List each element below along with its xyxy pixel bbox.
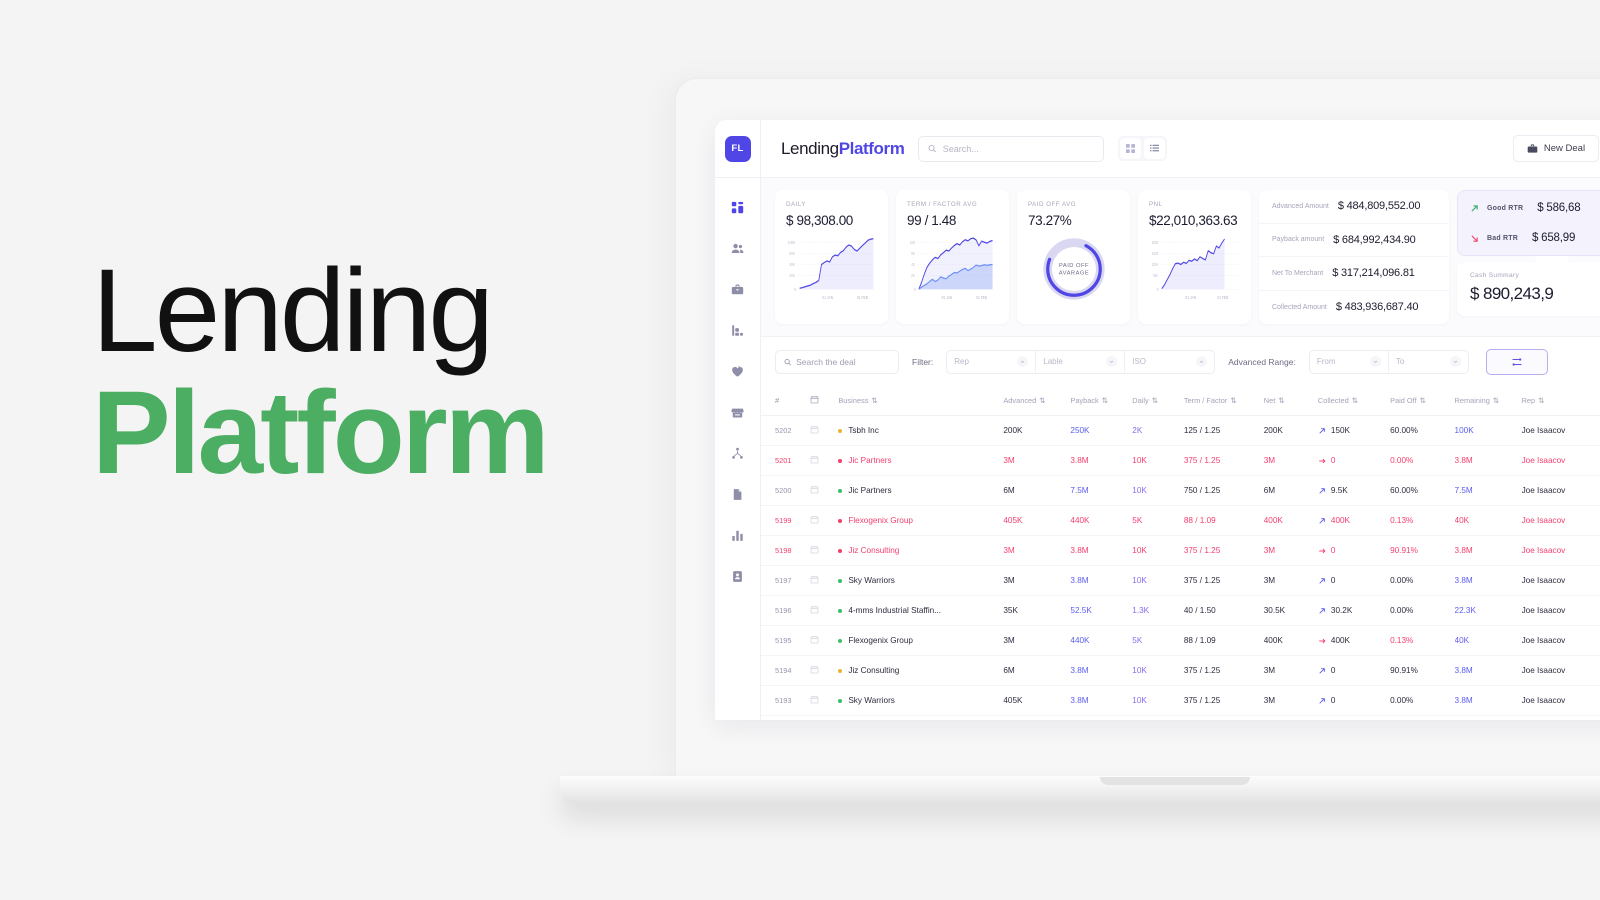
laptop-mockup: FL: [675, 78, 1600, 778]
cell-payback: 440K: [1070, 506, 1132, 536]
cell-id: 5202: [761, 416, 810, 446]
cell-collected: 0: [1318, 566, 1390, 596]
kpi-label: PNL: [1149, 201, 1240, 208]
rtr-cash-stack: Good RTR $ 586,68 Bad RTR $ 658,99 Cas: [1457, 190, 1600, 324]
brand-first: Lending: [781, 139, 839, 158]
cell-id: 5199: [761, 506, 810, 536]
calendar-icon: [810, 425, 819, 434]
rtr-card: Good RTR $ 586,68 Bad RTR $ 658,99: [1457, 190, 1600, 256]
calendar-icon: [810, 545, 819, 554]
cell-payback: 440K: [1070, 626, 1132, 656]
svg-text:20K: 20K: [789, 272, 795, 278]
cell-daily: 10K: [1132, 446, 1184, 476]
cell-business: Jiz Consulting: [838, 536, 1003, 566]
briefcase-icon: [1527, 143, 1538, 154]
status-dot: [838, 609, 842, 613]
cell-advanced: 6M: [1003, 656, 1070, 686]
chevron-down-icon: [1370, 356, 1381, 367]
filter-select-rep[interactable]: Rep: [947, 351, 1036, 373]
cell-daily: 10K: [1132, 686, 1184, 716]
sort-icon: ⇅: [1420, 396, 1426, 405]
cash-summary-value: $ 890,243,9: [1470, 284, 1600, 304]
arrow-up-right-icon: [1318, 427, 1326, 435]
business-name: Flexogenix Group: [848, 636, 913, 645]
cell-remaining: 3.8M: [1455, 686, 1522, 716]
col-term-factor[interactable]: Term / Factor⇅: [1184, 386, 1264, 416]
search-icon: [928, 144, 936, 153]
arrow-right-icon: [1318, 547, 1326, 555]
cell-daily: 5K: [1132, 506, 1184, 536]
sidebar-item-reports[interactable]: [727, 319, 749, 341]
range-to-select[interactable]: To: [1389, 351, 1468, 373]
logo-badge: FL: [725, 136, 751, 162]
range-from-value: From: [1317, 357, 1336, 366]
sort-icon: ⇅: [1278, 396, 1284, 405]
analytics-icon: [731, 529, 744, 542]
table-body: 5202Tsbh Inc200K250K2K125 / 1.25200K150K…: [761, 416, 1600, 716]
cell-calendar[interactable]: [810, 506, 838, 536]
svg-text:20: 20: [911, 272, 915, 278]
advanced-range-label: Advanced Range:: [1228, 357, 1296, 367]
cell-payback: 250K: [1070, 416, 1132, 446]
svg-text:5M: 5M: [1153, 272, 1158, 278]
archive-icon: [731, 570, 744, 583]
chevron-down-icon: [1106, 356, 1117, 367]
svg-text:15M: 15M: [1152, 250, 1159, 256]
cell-calendar[interactable]: [810, 626, 838, 656]
good-rtr-row: Good RTR $ 586,68: [1458, 193, 1600, 223]
summary-key: Payback amount: [1272, 236, 1324, 243]
cell-id: 5195: [761, 626, 810, 656]
app-logo[interactable]: FL: [715, 120, 761, 178]
cell-collected: 0: [1318, 536, 1390, 566]
svg-text:0: 0: [1157, 286, 1159, 292]
filter-select-rep-value: Rep: [954, 357, 969, 366]
cell-advanced: 3M: [1003, 536, 1070, 566]
calendar-icon: [810, 515, 819, 524]
cell-term-factor: 375 / 1.25: [1184, 536, 1264, 566]
cell-rep: Joe Isaacov: [1522, 476, 1600, 506]
svg-text:01 FEB: 01 FEB: [857, 294, 868, 300]
cash-summary-card: Cash Summary $ 890,243,9: [1457, 262, 1600, 316]
laptop-base: [560, 776, 1600, 804]
calendar-icon: [810, 395, 819, 404]
calendar-icon: [810, 605, 819, 614]
deals-icon: [731, 283, 744, 296]
grid-view-button[interactable]: [1120, 138, 1141, 159]
cell-collected: 400K: [1318, 626, 1390, 656]
summary-row: Net To Merchant $ 317,214,096.81: [1259, 257, 1449, 291]
deals-table-wrap[interactable]: # Business⇅ Advanced⇅ Payback⇅ Daily⇅ Te…: [761, 386, 1600, 720]
status-dot: [838, 459, 842, 463]
arrow-up-right-icon: [1318, 577, 1326, 585]
cell-term-factor: 375 / 1.25: [1184, 446, 1264, 476]
sidebar-item-analytics[interactable]: [727, 524, 749, 546]
col-collected[interactable]: Collected⇅: [1318, 386, 1390, 416]
cell-paid-off: 60.00%: [1390, 416, 1454, 446]
table-row[interactable]: 5201Jic Partners3M3.8M10K375 / 1.253M00.…: [761, 446, 1600, 476]
deals-table: # Business⇅ Advanced⇅ Payback⇅ Daily⇅ Te…: [761, 386, 1600, 716]
col-id[interactable]: #: [761, 386, 810, 416]
chevron-down-icon: [1450, 356, 1461, 367]
col-payback[interactable]: Payback⇅: [1070, 386, 1132, 416]
bad-rtr-row: Bad RTR $ 658,99: [1458, 223, 1600, 253]
advanced-range-group: From To: [1309, 350, 1469, 374]
clients-icon: [731, 242, 744, 255]
sidebar-item-deals[interactable]: [727, 278, 749, 300]
sidebar-item-pipeline[interactable]: [727, 442, 749, 464]
kpi-label: PAID OFF AVG: [1028, 201, 1119, 208]
business-name: Flexogenix Group: [848, 516, 913, 525]
pipeline-icon: [731, 447, 744, 460]
bad-rtr-value: $ 658,99: [1532, 232, 1575, 244]
cell-payback: 3.8M: [1070, 656, 1132, 686]
svg-text:0: 0: [794, 286, 796, 292]
cell-daily: 10K: [1132, 656, 1184, 686]
summary-row: Payback amount $ 684,992,434.90: [1259, 224, 1449, 258]
app-window: FL: [715, 120, 1600, 720]
cell-net: 3M: [1264, 446, 1318, 476]
business-name: Jiz Consulting: [848, 546, 899, 555]
col-rep[interactable]: Rep⇅: [1522, 386, 1600, 416]
cell-term-factor: 375 / 1.25: [1184, 566, 1264, 596]
term-factor-area-chart: 10080 4020 0 01 JAN01 FEB: [907, 237, 998, 303]
cell-net: 400K: [1264, 506, 1318, 536]
sidebar-item-merchants[interactable]: [727, 401, 749, 423]
cell-term-factor: 125 / 1.25: [1184, 416, 1264, 446]
search-icon: [784, 358, 791, 366]
cell-business: Sky Warriors: [838, 566, 1003, 596]
calendar-icon: [810, 485, 819, 494]
summary-value: $ 484,809,552.00: [1338, 200, 1420, 212]
calendar-icon: [810, 635, 819, 644]
filter-label: Filter:: [912, 357, 933, 367]
sidebar-item-dashboard[interactable]: [727, 196, 749, 218]
kpi-card-pnl: PNL $22,010,363.63 20M15M 10M5M 0: [1138, 190, 1251, 324]
cell-daily: 2K: [1132, 416, 1184, 446]
col-advanced[interactable]: Advanced⇅: [1003, 386, 1070, 416]
summary-row: Advanced Amount $ 484,809,552.00: [1259, 190, 1449, 224]
business-name: Jic Partners: [848, 486, 891, 495]
cell-calendar[interactable]: [810, 446, 838, 476]
filter-select-iso-value: ISO: [1132, 357, 1146, 366]
table-row[interactable]: 5199Flexogenix Group405K440K5K88 / 1.094…: [761, 506, 1600, 536]
summary-key: Net To Merchant: [1272, 270, 1323, 277]
table-row[interactable]: 5193Sky Warriors405K3.8M10K375 / 1.253M0…: [761, 686, 1600, 716]
table-row[interactable]: 5198Jiz Consulting3M3.8M10K375 / 1.253M0…: [761, 536, 1600, 566]
kpi-card-term-factor: TERM / FACTOR AVG 99 / 1.48 10080 4020 0: [896, 190, 1009, 324]
svg-text:0: 0: [914, 286, 916, 292]
cell-term-factor: 40 / 1.50: [1184, 596, 1264, 626]
svg-text:20M: 20M: [1152, 239, 1159, 245]
cell-daily: 10K: [1132, 476, 1184, 506]
sort-icon: ⇅: [1039, 396, 1045, 405]
grid-view-icon: [1126, 144, 1135, 153]
cell-advanced: 3M: [1003, 446, 1070, 476]
cell-collected: 400K: [1318, 506, 1390, 536]
sort-icon: ⇅: [1230, 396, 1236, 405]
list-view-icon: [1150, 144, 1159, 153]
chevron-down-icon: [1017, 356, 1028, 367]
cell-collected: 0: [1318, 446, 1390, 476]
cell-business: Flexogenix Group: [838, 506, 1003, 536]
cell-paid-off: 0.13%: [1390, 626, 1454, 656]
arrow-up-right-icon: [1318, 607, 1326, 615]
cell-paid-off: 0.00%: [1390, 446, 1454, 476]
deal-search-box[interactable]: [775, 350, 899, 374]
search-input[interactable]: [943, 144, 1095, 154]
cell-daily: 10K: [1132, 536, 1184, 566]
deal-search-input[interactable]: [796, 357, 890, 367]
svg-text:40: 40: [911, 261, 915, 267]
arrow-up-right-icon: [1318, 667, 1326, 675]
business-name: Jic Partners: [848, 456, 891, 465]
cell-rep: Joe Isaacov: [1522, 416, 1600, 446]
kpi-label: TERM / FACTOR AVG: [907, 201, 998, 208]
calendar-icon: [810, 665, 819, 674]
dashboard-icon: [731, 201, 744, 214]
svg-text:60K: 60K: [789, 250, 795, 256]
cell-paid-off: 0.00%: [1390, 686, 1454, 716]
table-row[interactable]: 5200Jic Partners6M7.5M10K750 / 1.256M9.5…: [761, 476, 1600, 506]
cell-rep: Joe Isaacov: [1522, 506, 1600, 536]
table-row[interactable]: 5194Jiz Consulting6M3.8M10K375 / 1.253M0…: [761, 656, 1600, 686]
cell-net: 30.5K: [1264, 596, 1318, 626]
table-row[interactable]: 5195Flexogenix Group3M440K5K88 / 1.09400…: [761, 626, 1600, 656]
daily-area-chart: 100K60K 40K20K 0 01 JAN01 FEB: [786, 237, 877, 303]
kpi-value: $ 98,308.00: [786, 213, 877, 228]
sort-icon: ⇅: [1352, 396, 1358, 405]
cell-rep: Joe Isaacov: [1522, 446, 1600, 476]
status-dot: [838, 579, 842, 583]
paid-off-donut-chart: PAID OFF AVARAGE: [1028, 234, 1119, 304]
cell-remaining: 7.5M: [1455, 476, 1522, 506]
hero-line-1: Lending: [92, 255, 652, 367]
new-deal-label: New Deal: [1544, 143, 1585, 154]
kpi-strip: DAILY $ 98,308.00 100K60K 40K20K 0: [761, 178, 1600, 336]
cell-payback: 3.8M: [1070, 446, 1132, 476]
cell-id: 5198: [761, 536, 810, 566]
hero-headline: Lending Platform: [92, 255, 652, 489]
cell-daily: 1.3K: [1132, 596, 1184, 626]
cell-calendar[interactable]: [810, 536, 838, 566]
topbar-actions: New Deal New Client: [1513, 135, 1600, 162]
cell-calendar[interactable]: [810, 686, 838, 716]
filter-select-iso[interactable]: ISO: [1125, 351, 1214, 373]
svg-text:100K: 100K: [788, 239, 796, 245]
cell-term-factor: 750 / 1.25: [1184, 476, 1264, 506]
status-dot: [838, 519, 842, 523]
list-view-button[interactable]: [1144, 138, 1165, 159]
svg-text:01 JAN: 01 JAN: [822, 294, 833, 300]
cell-net: 3M: [1264, 566, 1318, 596]
svg-text:01 FEB: 01 FEB: [1217, 294, 1228, 300]
cell-rep: Joe Isaacov: [1522, 626, 1600, 656]
status-dot: [838, 549, 842, 553]
sidebar-item-archive[interactable]: [727, 565, 749, 587]
sidebar-nav: [727, 196, 749, 587]
sidebar-item-partners[interactable]: [727, 360, 749, 382]
svg-text:40K: 40K: [789, 261, 795, 267]
reports-icon: [731, 324, 744, 337]
svg-text:01 JAN: 01 JAN: [942, 294, 953, 300]
col-business[interactable]: Business⇅: [838, 386, 1003, 416]
table-header: # Business⇅ Advanced⇅ Payback⇅ Daily⇅ Te…: [761, 386, 1600, 416]
cell-term-factor: 88 / 1.09: [1184, 506, 1264, 536]
range-to-value: To: [1396, 357, 1404, 366]
cell-calendar[interactable]: [810, 656, 838, 686]
status-dot: [838, 429, 842, 433]
new-deal-button[interactable]: New Deal: [1513, 135, 1599, 162]
arrow-right-icon: [1318, 457, 1326, 465]
sort-icon: ⇅: [1538, 396, 1544, 405]
cell-remaining: 40K: [1455, 506, 1522, 536]
col-daily[interactable]: Daily⇅: [1132, 386, 1184, 416]
business-name: Sky Warriors: [848, 696, 895, 705]
cell-payback: 3.8M: [1070, 686, 1132, 716]
cell-net: 3M: [1264, 686, 1318, 716]
table-row[interactable]: 51964-mms Industrial Staffin...35K52.5K1…: [761, 596, 1600, 626]
sort-icon: ⇅: [871, 396, 877, 405]
cell-business: Jic Partners: [838, 476, 1003, 506]
cell-business: Jic Partners: [838, 446, 1003, 476]
status-dot: [838, 699, 842, 703]
main-content: LendingPlatform: [761, 120, 1600, 720]
advanced-filter-button[interactable]: [1486, 349, 1548, 375]
col-paid-off[interactable]: Paid Off⇅: [1390, 386, 1454, 416]
good-rtr-value: $ 586,68: [1537, 202, 1580, 214]
table-row[interactable]: 5202Tsbh Inc200K250K2K125 / 1.25200K150K…: [761, 416, 1600, 446]
documents-icon: [731, 488, 744, 501]
brand-second: Platform: [839, 139, 905, 158]
cell-remaining: 22.3K: [1455, 596, 1522, 626]
cell-id: 5193: [761, 686, 810, 716]
status-dot: [838, 489, 842, 493]
cell-term-factor: 88 / 1.09: [1184, 626, 1264, 656]
sliders-icon: [1511, 356, 1523, 368]
kpi-card-paid-off: PAID OFF AVG 73.27% PAID OFF AVARAGE: [1017, 190, 1130, 324]
cell-collected: 30.2K: [1318, 596, 1390, 626]
cell-id: 5200: [761, 476, 810, 506]
business-name: Jiz Consulting: [848, 666, 899, 675]
cell-rep: Joe Isaacov: [1522, 596, 1600, 626]
arrow-up-right-icon: [1318, 517, 1326, 525]
filter-select-lable-value: Lable: [1043, 357, 1063, 366]
cell-remaining: 40K: [1455, 626, 1522, 656]
cell-remaining: 3.8M: [1455, 446, 1522, 476]
calendar-icon: [810, 695, 819, 704]
cell-paid-off: 90.91%: [1390, 536, 1454, 566]
cell-term-factor: 375 / 1.25: [1184, 656, 1264, 686]
table-header-row: # Business⇅ Advanced⇅ Payback⇅ Daily⇅ Te…: [761, 386, 1600, 416]
cell-id: 5194: [761, 656, 810, 686]
kpi-value: 99 / 1.48: [907, 213, 998, 228]
cell-advanced: 405K: [1003, 686, 1070, 716]
cell-paid-off: 0.13%: [1390, 506, 1454, 536]
bad-rtr-label: Bad RTR: [1487, 235, 1518, 242]
summary-key: Collected Amount: [1272, 304, 1327, 311]
cell-collected: 0: [1318, 656, 1390, 686]
summary-value: $ 684,992,434.90: [1333, 234, 1415, 246]
calendar-icon: [810, 455, 819, 464]
cell-paid-off: 60.00%: [1390, 476, 1454, 506]
cell-payback: 52.5K: [1070, 596, 1132, 626]
sidebar-item-documents[interactable]: [727, 483, 749, 505]
arrow-up-right-icon: [1470, 204, 1479, 213]
cell-net: 3M: [1264, 656, 1318, 686]
cell-calendar[interactable]: [810, 476, 838, 506]
cash-summary-label: Cash Summary: [1470, 272, 1600, 279]
cell-advanced: 200K: [1003, 416, 1070, 446]
sidebar-item-clients[interactable]: [727, 237, 749, 259]
cell-collected: 9.5K: [1318, 476, 1390, 506]
cell-advanced: 3M: [1003, 626, 1070, 656]
donut-center-line-2: AVARAGE: [1058, 271, 1088, 277]
cell-remaining: 3.8M: [1455, 656, 1522, 686]
kpi-card-daily: DAILY $ 98,308.00 100K60K 40K20K 0: [775, 190, 888, 324]
kpi-label: DAILY: [786, 201, 877, 208]
cell-id: 5201: [761, 446, 810, 476]
cell-net: 200K: [1264, 416, 1318, 446]
range-from-select[interactable]: From: [1310, 351, 1389, 373]
cell-business: Tsbh Inc: [838, 416, 1003, 446]
search-box[interactable]: [918, 136, 1104, 162]
svg-text:01 JAN: 01 JAN: [1185, 294, 1196, 300]
business-name: 4-mms Industrial Staffin...: [848, 606, 941, 615]
donut-center-line-1: PAID OFF: [1058, 263, 1088, 269]
cell-collected: 150K: [1318, 416, 1390, 446]
cell-business: 4-mms Industrial Staffin...: [838, 596, 1003, 626]
hero-line-2: Platform: [92, 377, 652, 489]
table-row[interactable]: 5197Sky Warriors3M3.8M10K375 / 1.253M00.…: [761, 566, 1600, 596]
cell-business: Jiz Consulting: [838, 656, 1003, 686]
merchants-icon: [731, 406, 744, 419]
cell-daily: 10K: [1132, 566, 1184, 596]
kpi-value: 73.27%: [1028, 213, 1119, 228]
col-net[interactable]: Net⇅: [1264, 386, 1318, 416]
cell-calendar[interactable]: [810, 566, 838, 596]
arrow-up-right-icon: [1318, 697, 1326, 705]
cell-net: 400K: [1264, 626, 1318, 656]
arrow-down-right-icon: [1470, 234, 1479, 243]
cell-daily: 5K: [1132, 626, 1184, 656]
col-calendar[interactable]: [810, 386, 838, 416]
status-dot: [838, 669, 842, 673]
summary-value: $ 317,214,096.81: [1332, 267, 1414, 279]
business-name: Sky Warriors: [848, 576, 895, 585]
cell-payback: 7.5M: [1070, 476, 1132, 506]
filter-select-lable[interactable]: Lable: [1036, 351, 1125, 373]
cell-term-factor: 375 / 1.25: [1184, 686, 1264, 716]
col-remaining[interactable]: Remaining⇅: [1455, 386, 1522, 416]
filter-bar: Filter: Rep Lable: [761, 336, 1600, 386]
cell-net: 3M: [1264, 536, 1318, 566]
cell-advanced: 3M: [1003, 566, 1070, 596]
cell-rep: Joe Isaacov: [1522, 566, 1600, 596]
cell-remaining: 100K: [1455, 416, 1522, 446]
filter-select-group: Rep Lable ISO: [946, 350, 1215, 374]
arrow-up-right-icon: [1318, 487, 1326, 495]
summary-value: $ 483,936,687.40: [1336, 301, 1418, 313]
calendar-icon: [810, 575, 819, 584]
cell-calendar[interactable]: [810, 416, 838, 446]
status-dot: [838, 639, 842, 643]
cell-business: Flexogenix Group: [838, 626, 1003, 656]
cell-calendar[interactable]: [810, 596, 838, 626]
good-rtr-label: Good RTR: [1487, 205, 1523, 212]
cell-id: 5197: [761, 566, 810, 596]
topbar: LendingPlatform: [761, 120, 1600, 178]
